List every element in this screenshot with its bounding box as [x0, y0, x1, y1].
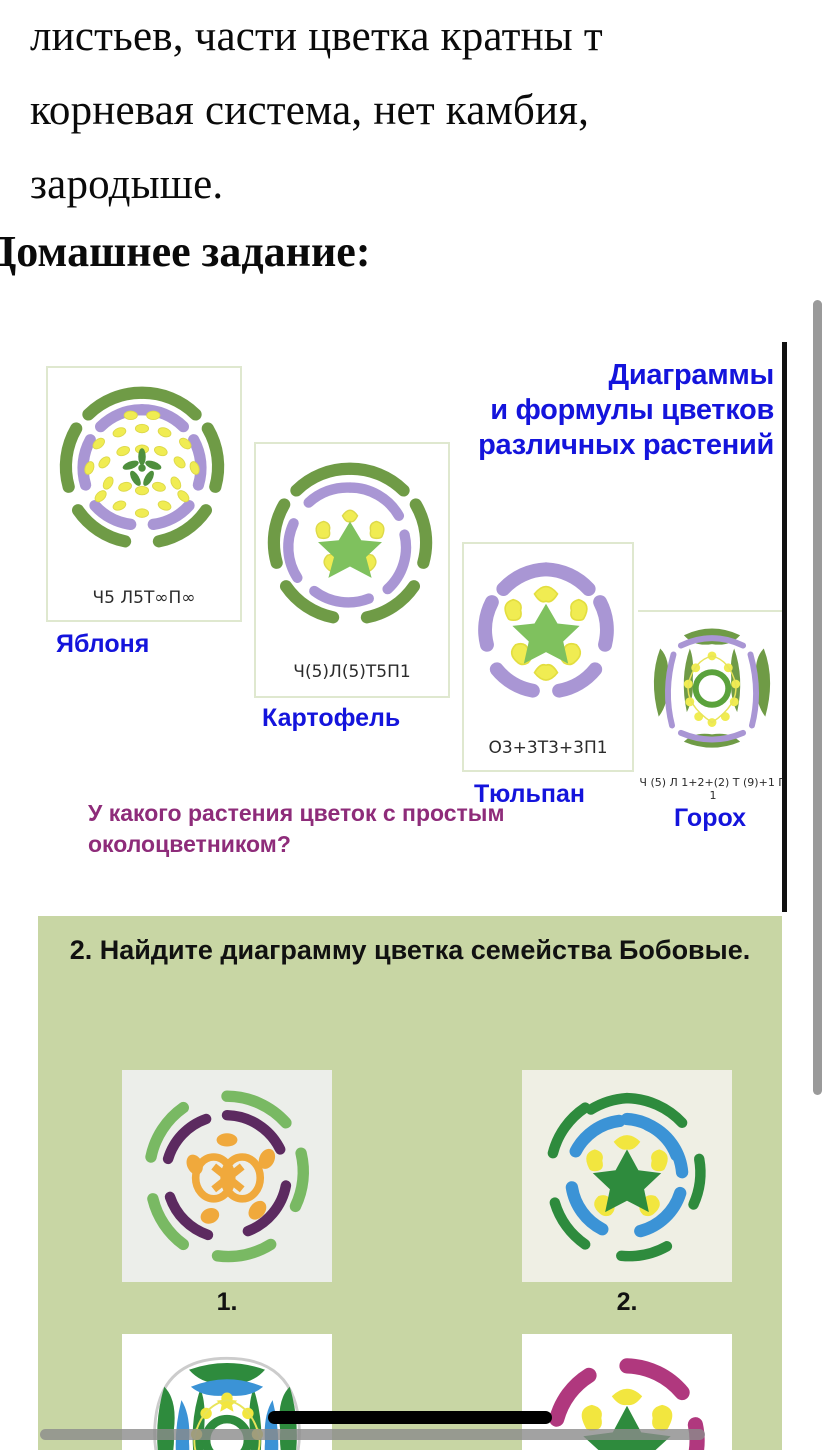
flower-diagram-pea [638, 612, 786, 762]
screen: листьев, части цветка кратны т корневая … [0, 0, 828, 1450]
card-tulip: О3+3Т3+3П1 [462, 542, 634, 772]
flower-diagram-tulip [464, 544, 628, 716]
flower-diagram-option-1 [132, 1081, 322, 1271]
slide1-title-line-1: Диаграммы [394, 358, 774, 393]
home-indicator-bar[interactable] [268, 1411, 552, 1424]
plant-name-potato: Картофель [262, 704, 400, 733]
card-potato: Ч(5)Л(5)Т5П1 [254, 442, 450, 698]
horizontal-scrollbar[interactable] [40, 1429, 705, 1440]
flower-diagram-potato [256, 444, 444, 644]
quiz-option-1-label: 1. [122, 1288, 332, 1317]
quiz-option-2-label: 2. [522, 1288, 732, 1317]
slide-quiz-panel[interactable]: 2. Найдите диаграмму цветка семейства Бо… [38, 916, 782, 1450]
slide1-title-line-2: и формулы цветков [394, 393, 774, 428]
formula-pea: Ч (5) Л 1+2+(2) Т (9)+1 П 1 [638, 776, 787, 802]
flower-diagram-option-2 [532, 1081, 722, 1271]
card-pea: Ч (5) Л 1+2+(2) Т (9)+1 П 1 [638, 610, 787, 798]
formula-tulip: О3+3Т3+3П1 [464, 738, 632, 758]
card-apple: Ч5 Л5Т∞П∞ [46, 366, 242, 622]
slide-diagrams-panel[interactable]: Диаграммы и формулы цветков различных ра… [38, 342, 787, 912]
slide1-question: У какого растения цветок с простым около… [88, 798, 558, 860]
homework-heading: Домашнее задание: [0, 222, 828, 282]
document-line-3: зародыше. [0, 148, 828, 222]
formula-apple: Ч5 Л5Т∞П∞ [48, 588, 240, 608]
formula-potato: Ч(5)Л(5)Т5П1 [256, 662, 448, 682]
list-bullet: . [0, 282, 828, 342]
plant-name-apple: Яблоня [56, 630, 149, 659]
slide1-title: Диаграммы и формулы цветков различных ра… [394, 358, 774, 463]
plant-name-pea: Горох [674, 804, 746, 833]
document-line-2: корневая система, нет камбия, [0, 74, 828, 148]
slide2-title: 2. Найдите диаграмму цветка семейства Бо… [38, 932, 782, 968]
document-text-block: листьев, части цветка кратны т корневая … [0, 0, 828, 342]
vertical-scrollbar[interactable] [813, 300, 822, 1095]
flower-diagram-apple [48, 368, 236, 568]
slide1-title-line-3: различных растений [394, 428, 774, 463]
quiz-option-2[interactable] [522, 1070, 732, 1282]
document-line-1: листьев, части цветка кратны т [0, 0, 828, 74]
quiz-option-1[interactable] [122, 1070, 332, 1282]
